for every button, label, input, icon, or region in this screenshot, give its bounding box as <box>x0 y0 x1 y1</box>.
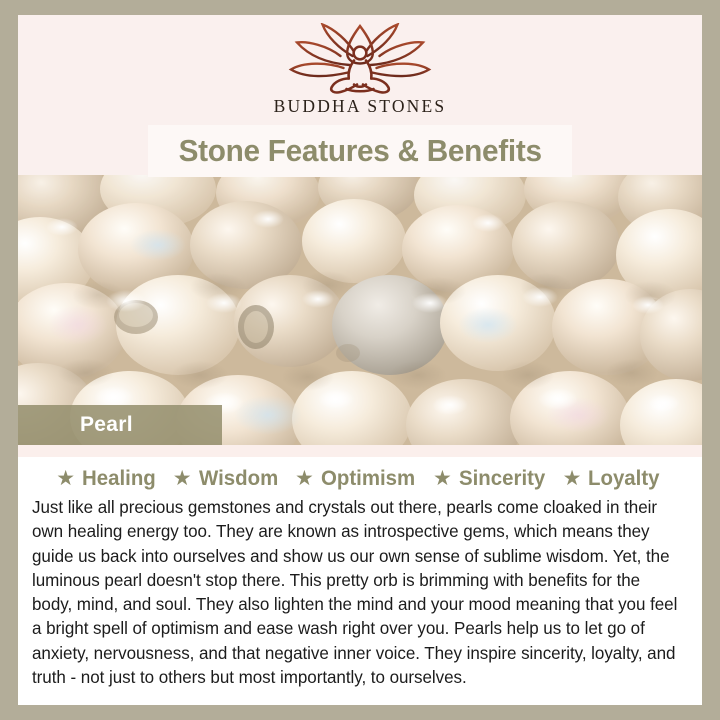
star-icon: ★ <box>173 468 192 489</box>
benefit-label: Optimism <box>321 466 415 491</box>
benefit-item-wisdom: ★ Wisdom <box>173 466 282 491</box>
title-banner: Stone Features & Benefits <box>148 125 572 177</box>
benefit-item-optimism: ★ Optimism <box>295 466 420 491</box>
stone-name-bar: Pearl <box>18 405 222 445</box>
benefits-row: ★ Healing ★ Wisdom ★ Optimism ★ Sincerit… <box>32 466 688 491</box>
star-icon: ★ <box>563 468 582 489</box>
benefit-item-healing: ★ Healing <box>56 466 159 491</box>
photo-text-divider <box>18 445 702 457</box>
stone-name-label: Pearl <box>18 413 133 437</box>
lotus-meditation-figure-icon <box>285 23 435 95</box>
benefit-label: Healing <box>82 466 156 491</box>
star-icon: ★ <box>56 468 75 489</box>
benefit-label: Loyalty <box>588 466 660 491</box>
description-panel: ★ Healing ★ Wisdom ★ Optimism ★ Sincerit… <box>18 457 702 705</box>
infographic-canvas: BUDDHA STONES Stone Features & Benefits <box>0 0 720 720</box>
star-icon: ★ <box>433 468 452 489</box>
benefit-label: Wisdom <box>199 466 278 491</box>
page-title: Stone Features & Benefits <box>178 133 541 169</box>
star-icon: ★ <box>295 468 314 489</box>
description-text: Just like all precious gemstones and cry… <box>32 495 678 689</box>
brand-logo-block: BUDDHA STONES <box>18 15 702 125</box>
benefit-item-sincerity: ★ Sincerity <box>433 466 550 491</box>
benefit-label: Sincerity <box>459 466 545 491</box>
brand-name: BUDDHA STONES <box>274 96 447 117</box>
benefit-item-loyalty: ★ Loyalty <box>563 466 664 491</box>
